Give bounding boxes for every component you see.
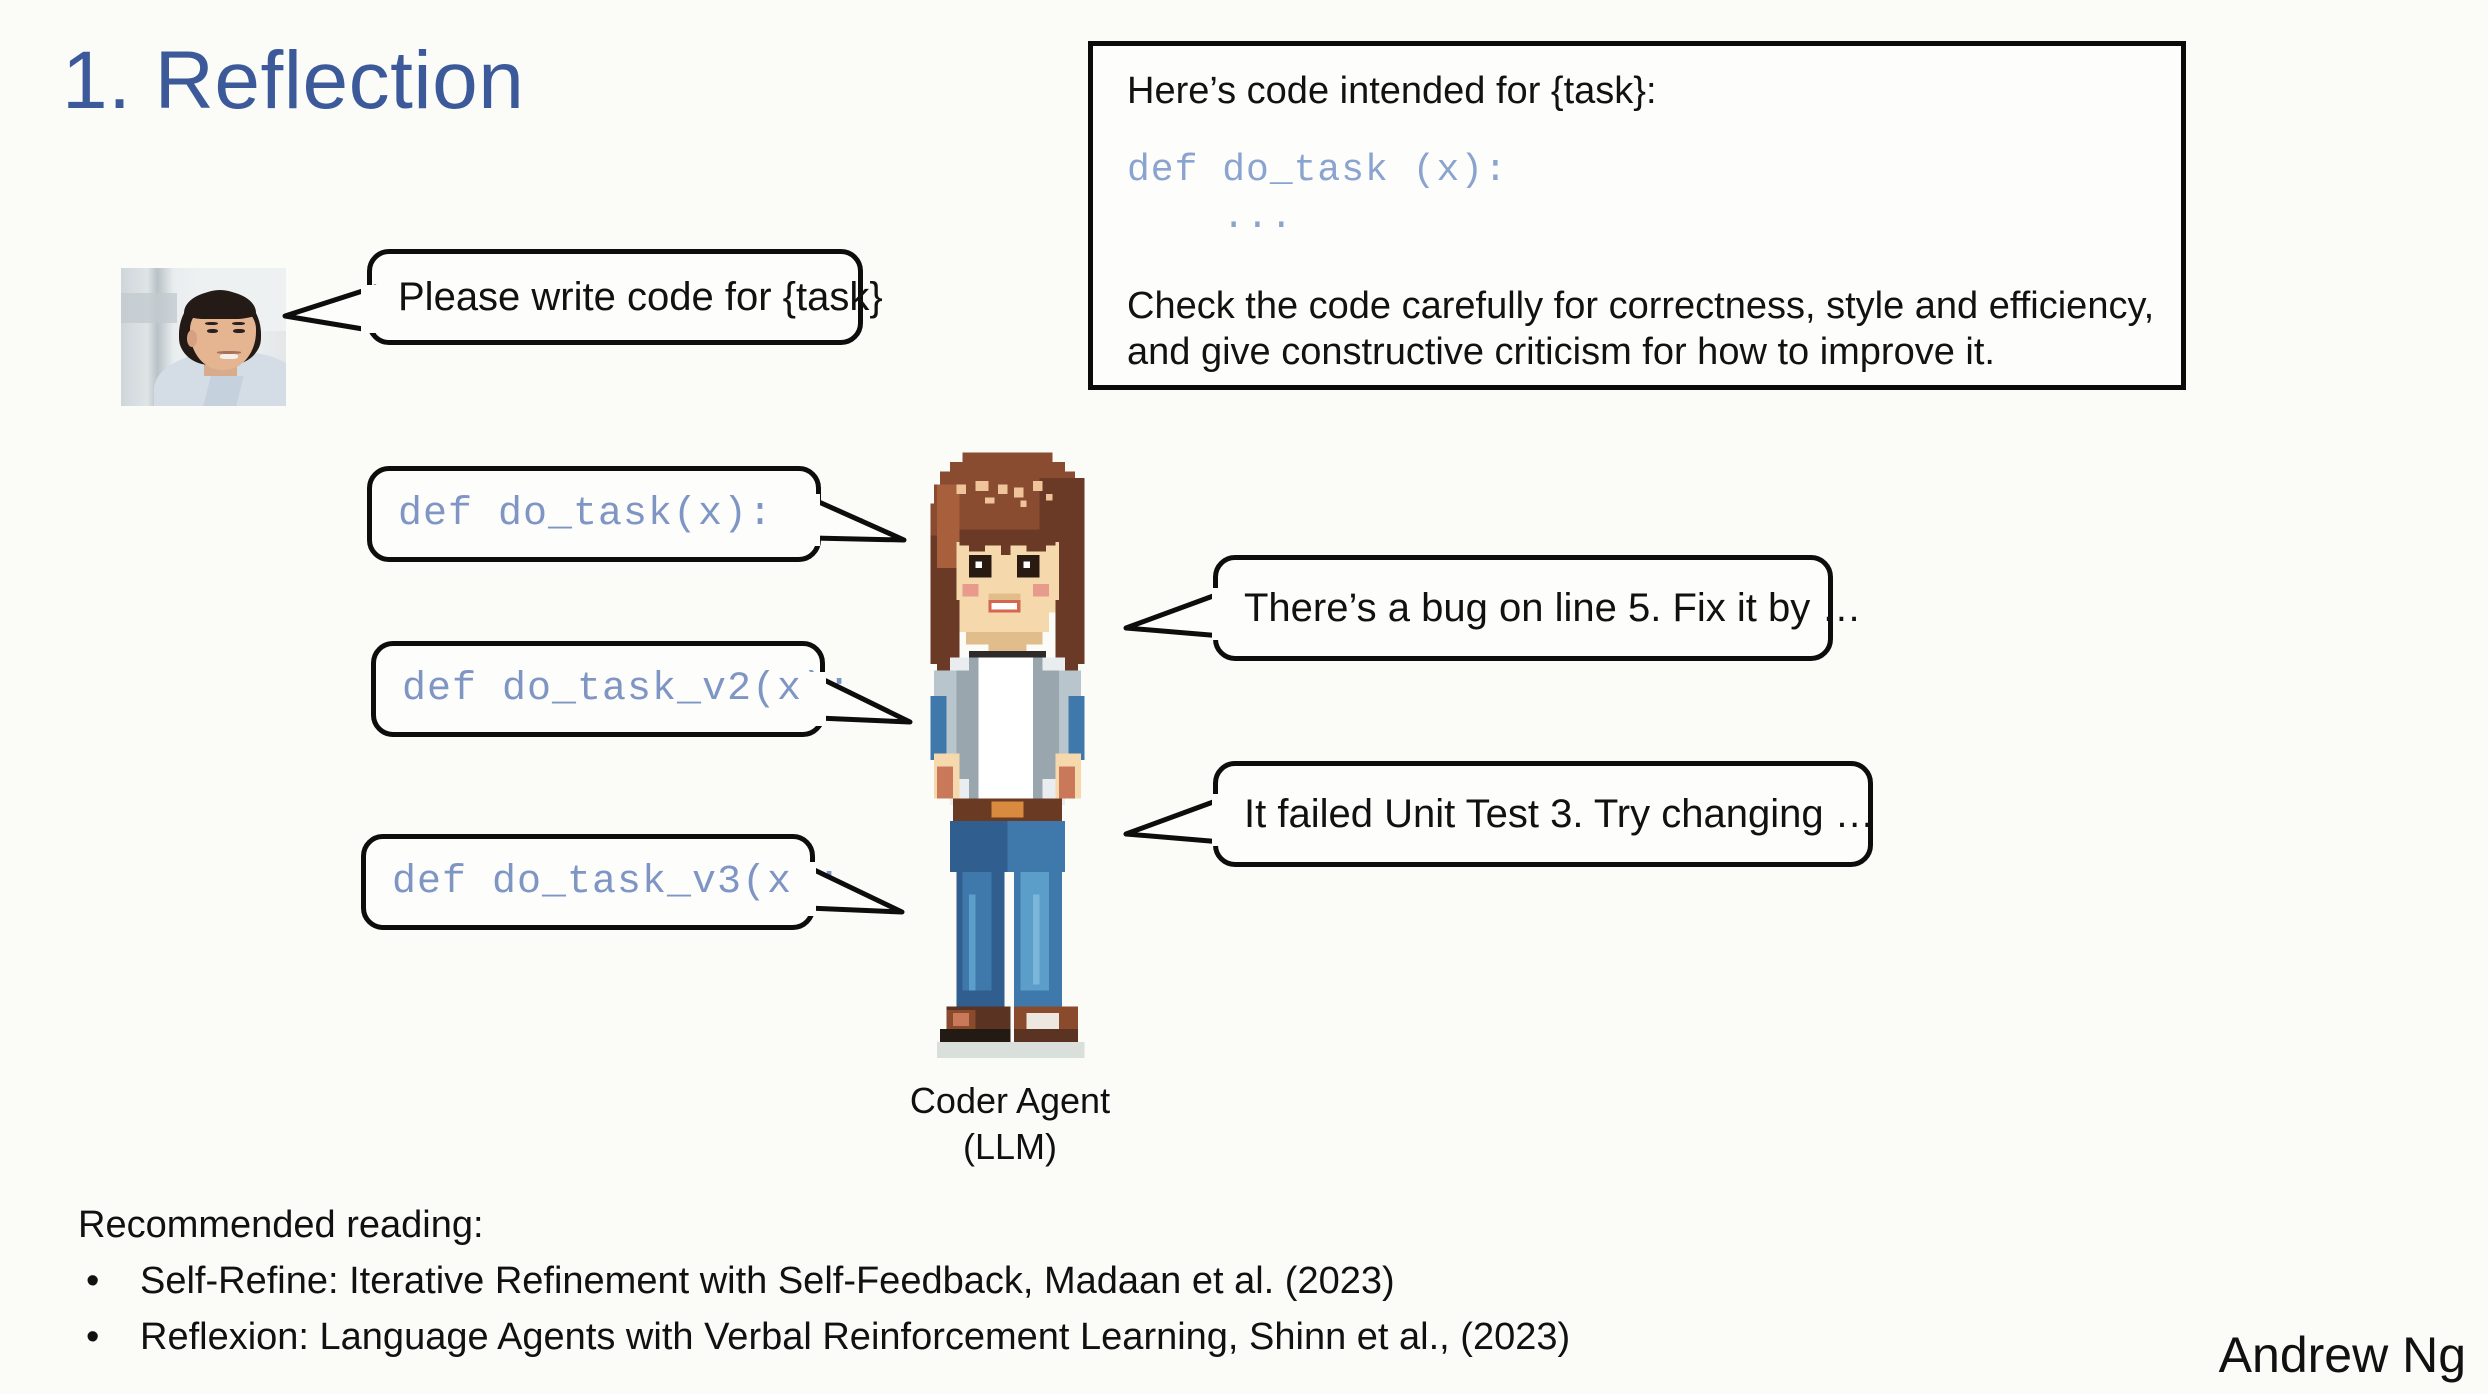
list-item-label: Self-Refine: Iterative Refinement with S… <box>140 1260 1395 1302</box>
critique-bubble-1-text: There’s a bug on line 5. Fix it by … <box>1218 586 1887 631</box>
critique-bubble-2-text: It failed Unit Test 3. Try changing … <box>1218 792 1901 837</box>
slide-canvas: 1. Reflection Please write code for {tas… <box>0 0 2488 1394</box>
reflection-prompt-box: Here’s code intended for {task}: def do_… <box>1088 41 2186 390</box>
list-item: • Reflexion: Language Agents with Verbal… <box>78 1312 1570 1362</box>
list-item: • Self-Refine: Iterative Refinement with… <box>78 1256 1570 1306</box>
critique-bubble-2: It failed Unit Test 3. Try changing … <box>1213 761 1873 867</box>
coder-agent-avatar <box>905 446 1110 1074</box>
critique-bubble-1: There’s a bug on line 5. Fix it by … <box>1213 555 1833 661</box>
prompt-code-line-2: ... <box>1127 195 2147 241</box>
recommended-reading-list: • Self-Refine: Iterative Refinement with… <box>78 1256 1570 1362</box>
code-bubble-1: def do_task(x): ... <box>367 466 821 562</box>
user-request-bubble: Please write code for {task} <box>367 249 863 345</box>
coder-agent-pixel-art <box>905 446 1110 1074</box>
list-item-label: Reflexion: Language Agents with Verbal R… <box>140 1316 1570 1358</box>
code-bubble-3: def do_task_v3(x): <box>361 834 815 930</box>
prompt-line-1: Here’s code intended for {task}: <box>1127 68 2147 114</box>
coder-agent-caption: Coder Agent (LLM) <box>830 1078 1190 1170</box>
prompt-spacer-2 <box>1127 241 2147 283</box>
code-bubble-1-text: def do_task(x): ... <box>372 492 899 537</box>
photo-mouth <box>220 354 238 360</box>
prompt-spacer-1 <box>1127 114 2147 148</box>
coder-agent-caption-line-2: (LLM) <box>830 1124 1190 1170</box>
coder-agent-caption-line-1: Coder Agent <box>830 1078 1190 1124</box>
user-request-text: Please write code for {task} <box>372 275 909 320</box>
photo-background-panel <box>121 293 177 323</box>
bullet-icon: • <box>86 1256 99 1306</box>
recommended-reading-heading: Recommended reading: <box>78 1200 1570 1250</box>
code-bubble-3-text: def do_task_v3(x): <box>366 860 868 905</box>
page-title: 1. Reflection <box>62 38 524 124</box>
bullet-icon: • <box>86 1312 99 1362</box>
code-bubble-2: def do_task_v2(x): <box>371 641 825 737</box>
prompt-line-2: Check the code carefully for correctness… <box>1127 283 2147 329</box>
code-bubble-2-text: def do_task_v2(x): <box>376 667 878 712</box>
author-signature: Andrew Ng <box>2219 1326 2466 1384</box>
prompt-line-3: and give constructive criticism for how … <box>1127 329 2147 375</box>
prompt-code-line-1: def do_task (x): <box>1127 148 2147 194</box>
user-avatar-photo <box>121 268 286 406</box>
recommended-reading: Recommended reading: • Self-Refine: Iter… <box>78 1200 1570 1362</box>
photo-ear <box>187 330 197 347</box>
